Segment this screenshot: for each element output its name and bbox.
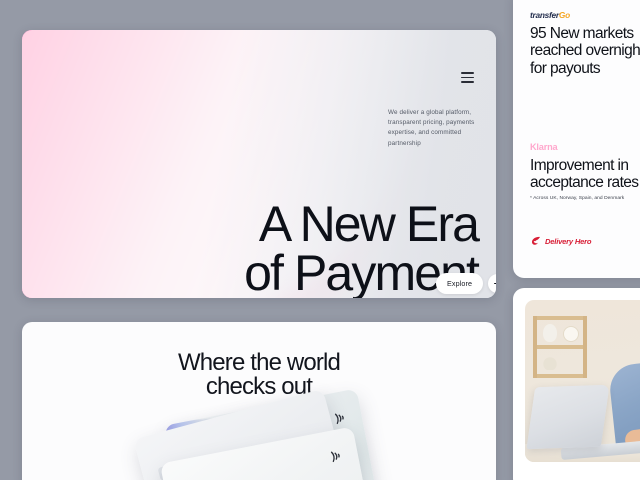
contactless-icon [330,409,349,428]
delivery-hero-swoosh-icon [530,235,542,247]
transfergo-logo-primary: transfer [530,10,559,20]
photo-card [513,288,640,480]
person-at-laptop-photo [525,300,640,462]
transfergo-headline: 95 New markets reached overnight for pay… [530,25,640,77]
transfergo-headline-line-1: 95 New markets [530,25,640,42]
payment-cards-artwork [140,404,380,480]
klarna-headline: Improvement in acceptance rates [530,157,638,192]
explore-button[interactable]: Explore [436,273,483,294]
transfergo-headline-line-3: for payouts [530,60,640,77]
hero-title-line-1: A New Era [22,200,478,249]
transfergo-logo: transferGo [530,10,640,20]
transfergo-headline-line-2: reached overnight [530,42,640,59]
stat-transfergo: transferGo 95 New markets reached overni… [530,10,640,77]
delivery-hero-logo: Delivery Hero [530,235,591,247]
hero-title-line-2: of Payment [22,249,478,298]
klarna-footnote: * Across UK, Norway, Spain, and Denmark [530,196,638,201]
klarna-logo: Klarna [530,142,638,152]
hero-card: We deliver a global platform, transparen… [22,30,496,298]
hero-description: We deliver a global platform, transparen… [388,108,484,149]
checkout-title: Where the world checks out [22,351,496,400]
arrow-right-icon[interactable] [488,274,496,293]
stats-card: transferGo 95 New markets reached overni… [513,0,640,278]
hero-cta: Explore [436,273,496,294]
contactless-icon [326,447,345,466]
page-root: We deliver a global platform, transparen… [0,0,640,480]
hamburger-icon[interactable] [461,72,474,83]
checkout-title-line-1: Where the world [22,351,496,375]
hero-title: A New Era of Payment [22,200,496,298]
laptop-lid [526,385,609,450]
stat-klarna: Klarna Improvement in acceptance rates *… [530,142,638,201]
checkout-title-line-2: checks out [22,375,496,399]
shelf-decor [533,316,587,378]
checkout-card: Where the world checks out [22,322,496,480]
transfergo-logo-secondary: Go [559,10,570,20]
klarna-headline-line-1: Improvement in [530,157,638,174]
delivery-hero-label: Delivery Hero [545,237,591,246]
klarna-headline-line-2: acceptance rates [530,174,638,191]
